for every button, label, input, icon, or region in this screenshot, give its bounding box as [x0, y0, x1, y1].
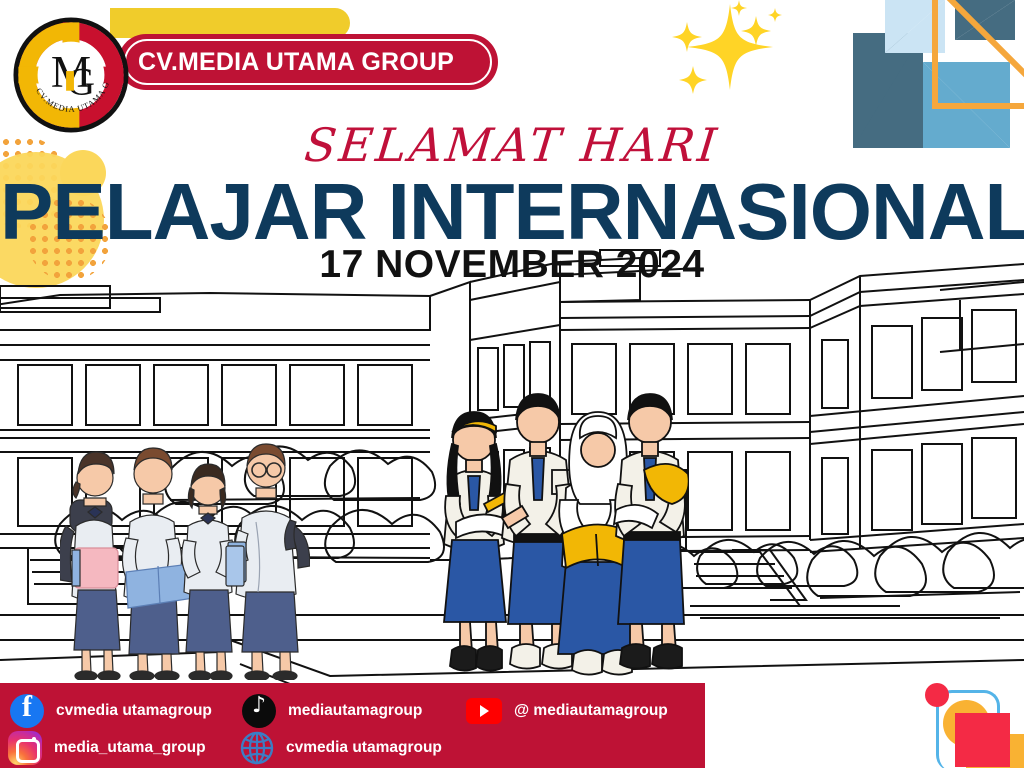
social-youtube[interactable]: @ mediautamagroup — [466, 698, 668, 724]
social-tiktok[interactable]: mediautamagroup — [242, 694, 422, 728]
instagram-handle: media_utama_group — [54, 739, 206, 757]
four-students-left-group — [60, 430, 310, 680]
brand-pill[interactable]: CV.MEDIA UTAMA GROUP — [118, 34, 498, 90]
tiktok-handle: mediautamagroup — [288, 702, 422, 720]
tiktok-icon — [242, 694, 276, 728]
youtube-icon — [466, 698, 502, 724]
students-illustration — [0, 0, 1024, 768]
social-facebook[interactable]: cvmedia utamagroup — [10, 694, 212, 728]
facebook-icon — [10, 694, 44, 728]
social-website[interactable]: cvmedia utamagroup — [240, 731, 442, 765]
four-students-right-group — [428, 392, 688, 682]
instagram-icon — [8, 731, 42, 765]
youtube-handle: @ mediautamagroup — [514, 702, 668, 720]
brand-name: CV.MEDIA UTAMA GROUP — [138, 48, 454, 77]
facebook-handle: cvmedia utamagroup — [56, 702, 212, 720]
cv-media-utama-group-logo[interactable]: M G CV.MEDIA UTAMA GROUP — [12, 16, 130, 134]
website-icon — [240, 731, 274, 765]
website-handle: cvmedia utamagroup — [286, 739, 442, 757]
poster-canvas: CV.MEDIA UTAMA GROUP M G CV.MEDIA UTAMA … — [0, 0, 1024, 768]
social-instagram[interactable]: media_utama_group — [8, 731, 206, 765]
